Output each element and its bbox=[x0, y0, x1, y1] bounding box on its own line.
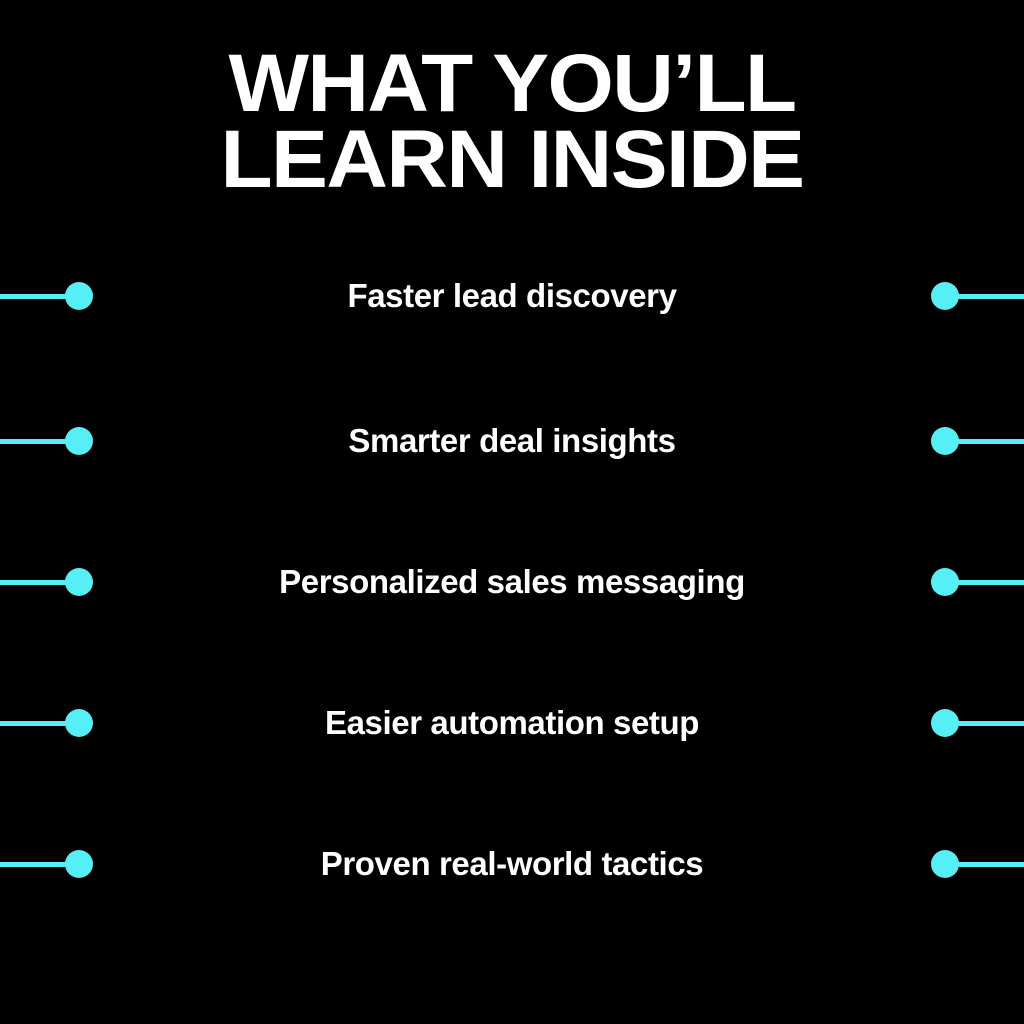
list-item: Faster lead discovery bbox=[0, 279, 1024, 313]
connector-right bbox=[931, 279, 1024, 313]
connector-line-icon bbox=[0, 294, 68, 299]
connector-dot-icon bbox=[931, 568, 959, 596]
list-item: Smarter deal insights bbox=[0, 424, 1024, 458]
connector-line-icon bbox=[0, 439, 68, 444]
connector-dot-icon bbox=[65, 709, 93, 737]
list-item-label: Personalized sales messaging bbox=[279, 565, 745, 599]
connector-left bbox=[0, 565, 93, 599]
list-item-label: Easier automation setup bbox=[325, 706, 699, 740]
connector-line-icon bbox=[956, 580, 1024, 585]
connector-line-icon bbox=[956, 439, 1024, 444]
connector-dot-icon bbox=[931, 850, 959, 878]
slide-canvas: WHAT YOU’LL LEARN INSIDE Faster lead dis… bbox=[0, 0, 1024, 1024]
connector-line-icon bbox=[0, 721, 68, 726]
connector-dot-icon bbox=[931, 282, 959, 310]
connector-left bbox=[0, 279, 93, 313]
connector-right bbox=[931, 424, 1024, 458]
list-item-label: Proven real-world tactics bbox=[321, 847, 703, 881]
connector-line-icon bbox=[956, 294, 1024, 299]
list-item: Personalized sales messaging bbox=[0, 565, 1024, 599]
connector-line-icon bbox=[956, 862, 1024, 867]
connector-dot-icon bbox=[931, 709, 959, 737]
benefit-list: Faster lead discovery Smarter deal insig… bbox=[0, 0, 1024, 1024]
connector-right bbox=[931, 706, 1024, 740]
connector-line-icon bbox=[0, 580, 68, 585]
connector-line-icon bbox=[0, 862, 68, 867]
connector-dot-icon bbox=[65, 282, 93, 310]
connector-dot-icon bbox=[65, 568, 93, 596]
connector-right bbox=[931, 847, 1024, 881]
list-item-label: Faster lead discovery bbox=[347, 279, 676, 313]
connector-dot-icon bbox=[65, 427, 93, 455]
list-item: Easier automation setup bbox=[0, 706, 1024, 740]
connector-dot-icon bbox=[931, 427, 959, 455]
connector-right bbox=[931, 565, 1024, 599]
list-item: Proven real-world tactics bbox=[0, 847, 1024, 881]
connector-left bbox=[0, 424, 93, 458]
connector-left bbox=[0, 706, 93, 740]
connector-dot-icon bbox=[65, 850, 93, 878]
list-item-label: Smarter deal insights bbox=[348, 424, 675, 458]
connector-left bbox=[0, 847, 93, 881]
connector-line-icon bbox=[956, 721, 1024, 726]
